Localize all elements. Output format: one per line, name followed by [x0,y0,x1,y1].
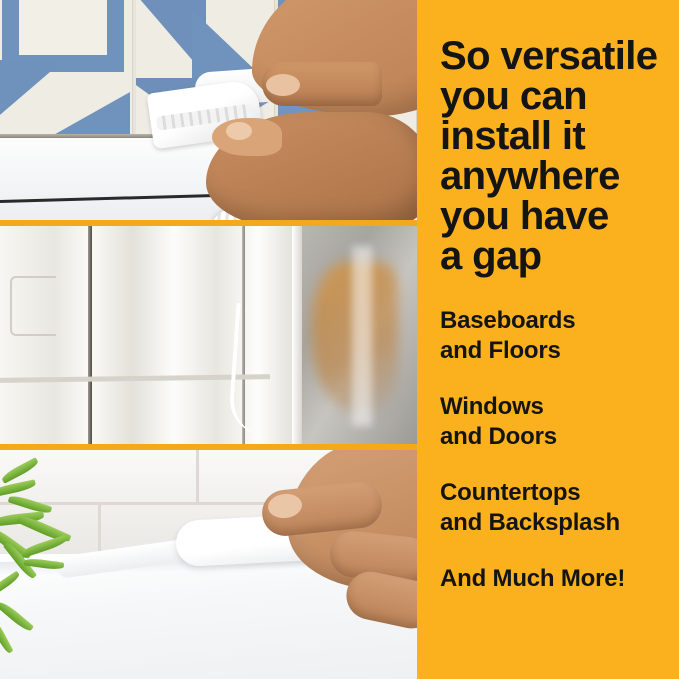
fingernail [226,122,252,140]
list-item: Baseboards and Floors [440,306,663,366]
frame-groove [88,226,92,444]
product-infographic: So versatile you can install it anywhere… [0,0,679,679]
glass-highlight [352,246,372,426]
photo-caulk-strip-on-tile-backsplash [0,0,417,220]
benefit-list: Baseboards and Floors Windows and Doors … [440,306,663,594]
frame-edge [292,226,302,444]
headline: So versatile you can install it anywhere… [440,36,663,276]
photo-column [0,0,417,679]
photo-applicator-tool-on-window-frame [0,226,417,444]
text-column: So versatile you can install it anywhere… [417,0,679,679]
photo-caulk-strip-on-countertop [0,450,417,679]
list-item: Countertops and Backsplash [440,478,663,538]
plant [0,456,100,656]
list-item: Windows and Doors [440,392,663,452]
fingernail [266,74,300,96]
list-item: And Much More! [440,564,663,594]
tile [0,0,133,142]
